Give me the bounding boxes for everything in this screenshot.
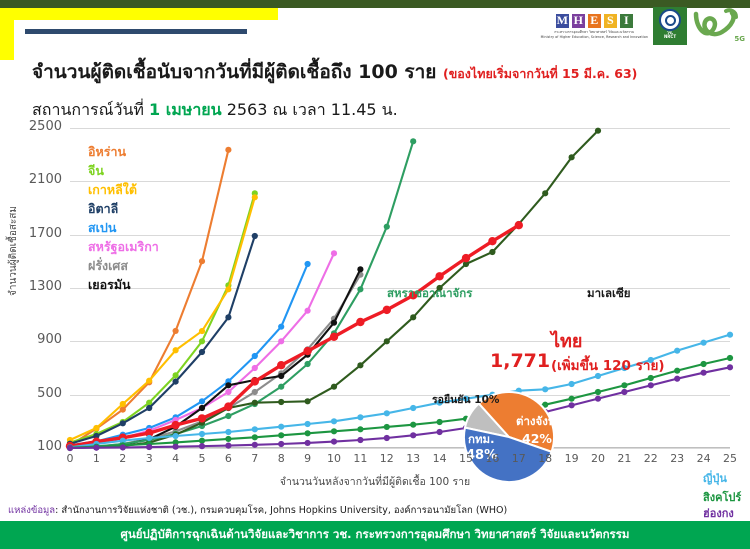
data-point (252, 442, 258, 448)
data-point (305, 430, 311, 436)
data-point (357, 286, 363, 292)
data-point (146, 378, 152, 384)
pie-label-bangkok: กทม. (468, 431, 495, 449)
data-point (225, 314, 231, 320)
y-axis-ticks: 1005009001300170021002500 (6, 128, 62, 448)
nrct-label-en: NRCT (664, 35, 676, 39)
data-point (278, 384, 284, 390)
x-tick-20: 20 (591, 452, 605, 465)
gridline-100 (70, 448, 730, 449)
y-tick-2100: 2100 (18, 172, 62, 187)
x-tick-2: 2 (119, 452, 126, 465)
data-point (701, 370, 707, 376)
mhesi-subtitle-th: กระทรวงการอุดมศึกษา วิทยาศาสตร์ วิจัยและ… (554, 30, 634, 34)
data-point (277, 361, 285, 369)
data-point (252, 434, 258, 440)
data-point (173, 328, 179, 334)
legend-item-สหรัฐอเมริกา: สหรัฐอเมริกา (88, 237, 159, 256)
data-point (146, 444, 152, 450)
annotation-thailand-label: ไทย (551, 326, 582, 355)
pie-value-province: 42% (522, 431, 552, 446)
data-point (384, 338, 390, 344)
data-point (224, 402, 232, 410)
annotation-uk: สหราชอาณาจักร (387, 285, 472, 303)
x-tick-15: 15 (459, 452, 473, 465)
data-point (437, 419, 443, 425)
annotation-thailand-value: 1,771 (490, 350, 550, 372)
x-axis-label: จำนวนวันหลังจากวันที่มีผู้ติดเชื้อ 100 ร… (0, 473, 750, 490)
source-key: แหล่งข้อมูล (8, 505, 55, 516)
data-point (410, 405, 416, 411)
data-point (569, 154, 575, 160)
legend-item-จีน: จีน (88, 161, 159, 180)
data-point (225, 443, 231, 449)
data-point (384, 424, 390, 430)
x-tick-12: 12 (380, 452, 394, 465)
data-point (569, 396, 575, 402)
data-point (356, 318, 364, 326)
data-point (199, 338, 205, 344)
legend-item-ฝรั่งเศส: ฝรั่งเศส (88, 256, 159, 275)
logo-group: MHESI กระทรวงการอุดมศึกษา วิทยาศาสตร์ วิ… (541, 7, 744, 45)
data-point (199, 438, 205, 444)
data-point (93, 425, 99, 431)
y-tick-1700: 1700 (18, 226, 62, 241)
data-point (357, 362, 363, 368)
data-point (225, 389, 231, 395)
data-point (330, 333, 338, 341)
data-point (278, 324, 284, 330)
data-point (674, 368, 680, 374)
x-tick-22: 22 (644, 452, 658, 465)
x-tick-5: 5 (199, 452, 206, 465)
data-point (252, 365, 258, 371)
yellow-band (0, 8, 278, 20)
data-point (331, 418, 337, 424)
x-tick-6: 6 (225, 452, 232, 465)
mhesi-logo: MHESI กระทรวงการอุดมศึกษา วิทยาศาสตร์ วิ… (541, 13, 648, 40)
wo-5g-badge: 5G (734, 35, 745, 43)
data-point (199, 349, 205, 355)
data-point (621, 389, 627, 395)
legend-item-อิหร่าน: อิหร่าน (88, 142, 159, 161)
x-tick-0: 0 (67, 452, 74, 465)
data-point (569, 402, 575, 408)
footer-banner: ศูนย์ปฏิบัติการฉุกเฉินด้านวิจัยและวิชากา… (0, 521, 750, 549)
y-tick-100: 100 (18, 439, 62, 454)
data-point (701, 340, 707, 346)
mhesi-letter-m: M (555, 13, 570, 29)
data-point (331, 250, 337, 256)
annotation-hongkong: ฮ่องกง (703, 504, 734, 522)
data-point (569, 381, 575, 387)
data-point (225, 429, 231, 435)
page-title: จำนวนผู้ติดเชื้อนับจากวันที่มีผู้ติดเชื้… (32, 57, 637, 87)
data-point (462, 254, 470, 262)
data-point (357, 437, 363, 443)
x-axis-ticks: 0123456789101112131415161718192021222324… (70, 452, 730, 470)
data-point (120, 407, 126, 413)
data-point (648, 382, 654, 388)
data-point (199, 258, 205, 264)
yellow-left-accent (0, 8, 14, 60)
data-point (173, 444, 179, 450)
mhesi-letter-boxes: MHESI (555, 13, 634, 29)
legend-item-เกาหลีใต้: เกาหลีใต้ (88, 180, 159, 199)
data-point (701, 361, 707, 367)
x-tick-10: 10 (327, 452, 341, 465)
data-point (410, 138, 416, 144)
data-point (305, 421, 311, 427)
data-point (383, 306, 391, 314)
data-point (120, 444, 126, 450)
data-point (410, 422, 416, 428)
legend-item-สเปน: สเปน (88, 218, 159, 237)
x-tick-17: 17 (512, 452, 526, 465)
x-tick-23: 23 (670, 452, 684, 465)
data-point (331, 384, 337, 390)
data-point (303, 347, 311, 355)
data-point (146, 435, 152, 441)
x-tick-19: 19 (565, 452, 579, 465)
data-point (225, 413, 231, 419)
y-tick-2500: 2500 (18, 119, 62, 134)
data-point (171, 421, 179, 429)
mhesi-letter-e: E (587, 13, 602, 29)
data-point (674, 348, 680, 354)
data-point (199, 443, 205, 449)
legend-item-อิตาลี: อิตาลี (88, 199, 159, 218)
data-point (410, 314, 416, 320)
x-tick-18: 18 (538, 452, 552, 465)
data-point (225, 147, 231, 153)
source-line: แหล่งข้อมูล: สำนักงานการวิจัยแห่งชาติ (ว… (8, 503, 507, 518)
slide-root: MHESI กระทรวงการอุดมศึกษา วิทยาศาสตร์ วิ… (0, 0, 750, 549)
y-tick-1300: 1300 (18, 279, 62, 294)
data-point (435, 272, 443, 280)
annotation-thailand-delta: (เพิ่มขึ้น 120 ราย) (551, 354, 665, 376)
y-tick-500: 500 (18, 386, 62, 401)
data-point (437, 429, 443, 435)
data-point (595, 128, 601, 134)
data-point (199, 431, 205, 437)
data-point (727, 364, 733, 370)
x-tick-4: 4 (172, 452, 179, 465)
data-point (727, 355, 733, 361)
nrct-emblem-icon (659, 9, 681, 31)
x-tick-11: 11 (353, 452, 367, 465)
nrct-logo: วช. NRCT (653, 7, 687, 45)
data-point (674, 376, 680, 382)
data-point (252, 353, 258, 359)
data-point (252, 426, 258, 432)
annotation-malaysia: มาเลเซีย (587, 285, 631, 303)
data-point (120, 420, 126, 426)
data-point (278, 338, 284, 344)
data-point (67, 445, 73, 451)
mhesi-letter-h: H (571, 13, 586, 29)
data-point (278, 399, 284, 405)
data-point (173, 372, 179, 378)
data-point (252, 389, 258, 395)
page-title-note: (ของไทยเริ่มจากวันที่ 15 มี.ค. 63) (443, 66, 637, 81)
data-point (146, 405, 152, 411)
data-point (225, 382, 231, 388)
data-point (542, 190, 548, 196)
data-point (199, 328, 205, 334)
data-point (278, 424, 284, 430)
data-point (515, 221, 523, 229)
data-point (305, 361, 311, 367)
chart-legend: อิหร่านจีนเกาหลีใต้อิตาลีสเปนสหรัฐอเมริก… (88, 142, 159, 294)
data-point (251, 377, 259, 385)
data-point (489, 249, 495, 255)
data-point (252, 194, 258, 200)
page-subtitle: สถานการณ์วันที่ 1 เมษายน 2563 ณ เวลา 11.… (32, 98, 398, 123)
wo-5g-logo: 5G (692, 8, 744, 44)
data-point (225, 436, 231, 442)
subtitle-pre: สถานการณ์วันที่ (32, 100, 149, 119)
x-tick-3: 3 (146, 452, 153, 465)
data-point (225, 286, 231, 292)
x-tick-7: 7 (251, 452, 258, 465)
data-point (357, 266, 363, 272)
mhesi-subtitle-en: Ministry of Higher Education, Science, R… (541, 35, 648, 39)
data-point (331, 320, 337, 326)
x-tick-13: 13 (406, 452, 420, 465)
data-point (305, 308, 311, 314)
data-point (384, 435, 390, 441)
page-title-main: จำนวนผู้ติดเชื้อนับจากวันที่มีผู้ติดเชื้… (32, 61, 436, 83)
x-tick-9: 9 (304, 452, 311, 465)
source-value: : สำนักงานการวิจัยแห่งชาติ (วช.), กรมควบ… (55, 505, 507, 516)
x-tick-25: 25 (723, 452, 737, 465)
data-point (120, 401, 126, 407)
data-point (357, 414, 363, 420)
data-point (305, 261, 311, 267)
x-tick-8: 8 (278, 452, 285, 465)
x-tick-24: 24 (697, 452, 711, 465)
data-point (173, 433, 179, 439)
data-point (278, 373, 284, 379)
mhesi-letter-i: I (619, 13, 634, 29)
data-point (252, 233, 258, 239)
data-point (252, 400, 258, 406)
data-point (199, 398, 205, 404)
x-tick-16: 16 (485, 452, 499, 465)
x-tick-14: 14 (433, 452, 447, 465)
data-point (198, 414, 206, 422)
data-point (173, 347, 179, 353)
x-tick-1: 1 (93, 452, 100, 465)
data-point (595, 389, 601, 395)
data-point (93, 445, 99, 451)
x-tick-21: 21 (617, 452, 631, 465)
data-point (331, 439, 337, 445)
data-point (305, 398, 311, 404)
data-point (199, 405, 205, 411)
footer-banner-text: ศูนย์ปฏิบัติการฉุกเฉินด้านวิจัยและวิชากา… (121, 526, 630, 544)
data-point (278, 441, 284, 447)
data-point (384, 224, 390, 230)
chart-area: จำนวนผู้ติดเชื้อสะสม 1005009001300170021… (0, 128, 750, 473)
data-point (727, 332, 733, 338)
pie-label-awaiting: รอยืนยัน 10% (432, 391, 499, 408)
data-point (278, 432, 284, 438)
data-point (488, 237, 496, 245)
data-point (357, 426, 363, 432)
y-tick-900: 900 (18, 332, 62, 347)
mhesi-letter-s: S (603, 13, 618, 29)
subtitle-date-highlight: 1 เมษายน (149, 100, 222, 119)
data-point (305, 440, 311, 446)
data-point (410, 432, 416, 438)
data-point (384, 410, 390, 416)
pie-label-province: ต่างจังหวัด (516, 413, 569, 431)
data-point (595, 396, 601, 402)
data-point (331, 428, 337, 434)
subtitle-post: 2563 ณ เวลา 11.45 น. (222, 100, 398, 119)
navy-rule (25, 29, 247, 34)
data-point (173, 379, 179, 385)
legend-item-เยอรมัน: เยอรมัน (88, 275, 159, 294)
data-point (621, 382, 627, 388)
